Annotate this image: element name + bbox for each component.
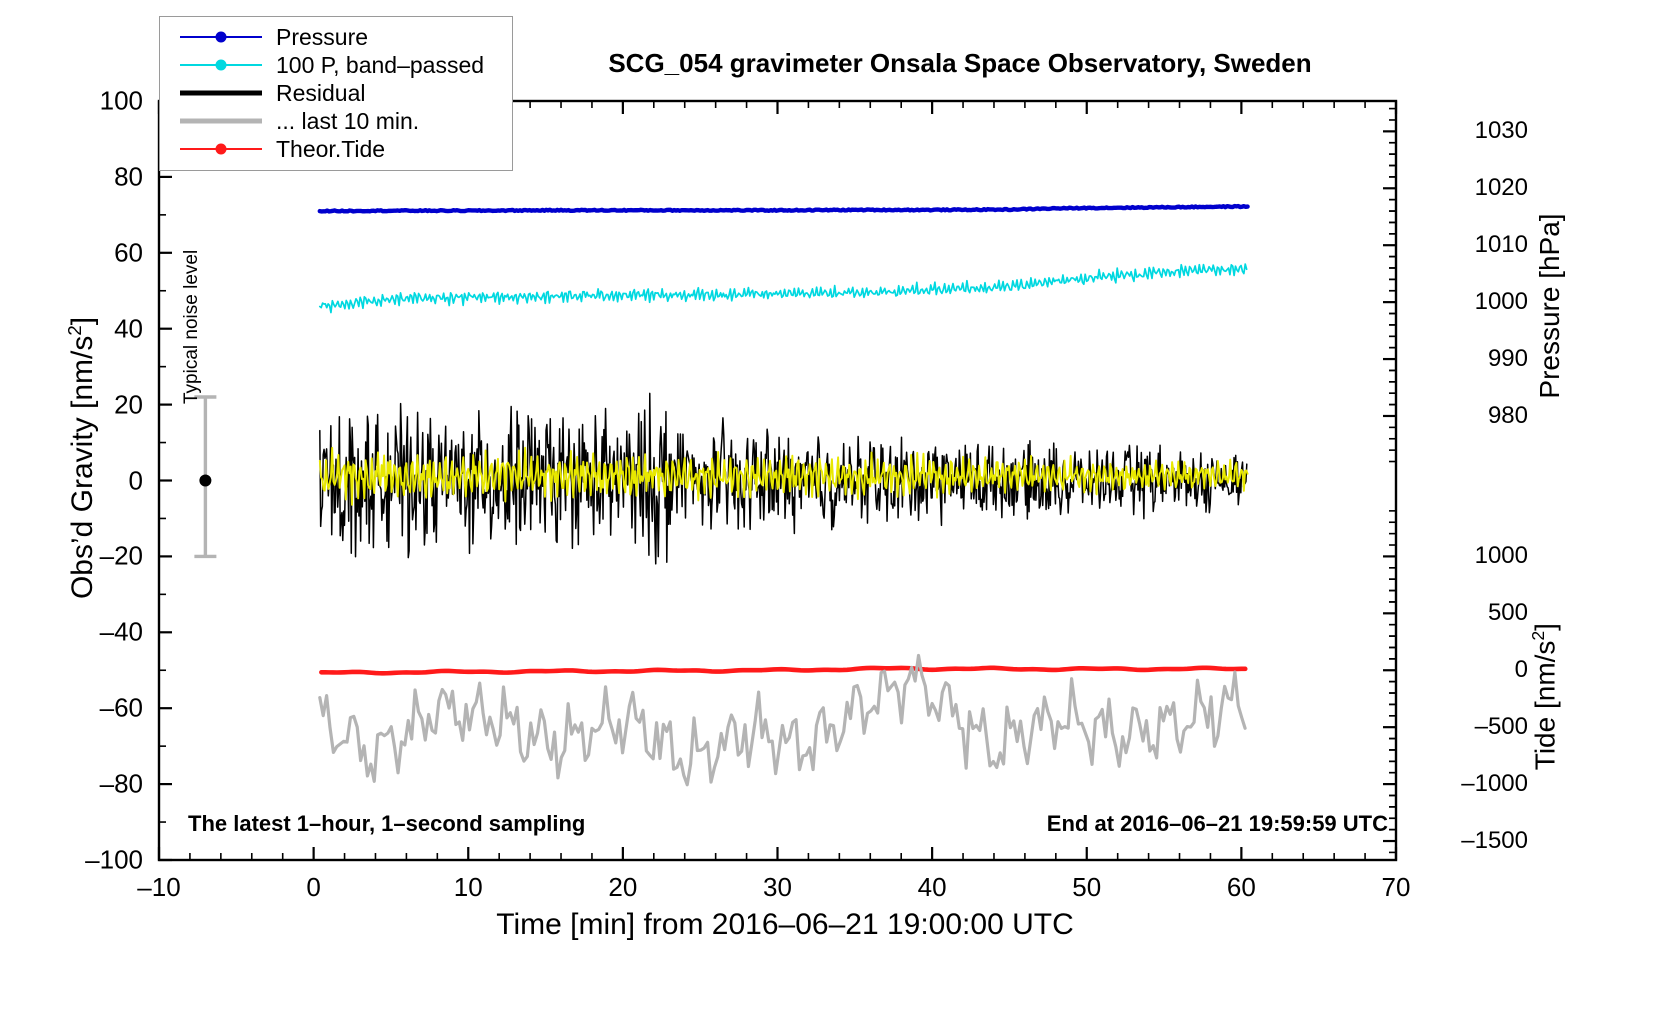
y-axis-right-tick-label: 1020: [1418, 174, 1528, 202]
chart-figure: SCG_054 gravimeter Onsala Space Observat…: [0, 0, 1660, 1020]
latest-sampling-note: The latest 1–hour, 1–second sampling: [188, 811, 585, 837]
series-pressure: [320, 206, 1248, 211]
noise-level-note: Typical noise level: [181, 224, 203, 404]
series-last-10-min: [320, 656, 1245, 785]
y-axis-right-tick-label: –1000: [1418, 770, 1528, 798]
legend-item[interactable]: ... last 10 min.: [160, 107, 512, 135]
legend: Pressure100 P, band–passedResidual... la…: [159, 16, 513, 171]
y-axis-left-tick-label: –100: [23, 845, 143, 876]
y-axis-right-tide-title: Tide [nm/s2]: [1528, 497, 1561, 897]
legend-item-label: Pressure: [276, 24, 368, 51]
legend-item[interactable]: Theor.Tide: [160, 135, 512, 163]
y-axis-left-tick-label: 60: [23, 237, 143, 268]
y-axis-right-pressure-title: Pressure [hPa]: [1534, 96, 1566, 516]
legend-swatch-5: [178, 135, 264, 163]
x-axis-tick-label: 20: [563, 872, 683, 903]
x-axis-tick-label: 30: [718, 872, 838, 903]
legend-marker-dot-icon: [216, 32, 227, 43]
y-axis-left-tick-label: –80: [23, 769, 143, 800]
end-time-note: End at 2016–06–21 19:59:59 UTC: [1047, 811, 1388, 837]
y-axis-right-tick-label: –500: [1418, 713, 1528, 741]
legend-marker-dot-icon: [216, 60, 227, 71]
y-axis-right-tick-label: 990: [1418, 345, 1528, 373]
y-axis-left-tick-label: 100: [23, 86, 143, 117]
x-axis-tick-label: 0: [254, 872, 374, 903]
y-axis-right-tick-label: 0: [1418, 656, 1528, 684]
legend-item-label: 100 P, band–passed: [276, 52, 484, 79]
y-axis-left-tick-label: –20: [23, 541, 143, 572]
legend-line-icon: [180, 119, 262, 124]
legend-item[interactable]: Pressure: [160, 23, 512, 51]
legend-item-label: ... last 10 min.: [276, 108, 419, 135]
y-axis-right-tick-label: 1030: [1418, 117, 1528, 145]
legend-item[interactable]: 100 P, band–passed: [160, 51, 512, 79]
y-axis-left-tick-label: 40: [23, 313, 143, 344]
x-axis-title: Time [min] from 2016–06–21 19:00:00 UTC: [180, 908, 1390, 942]
x-axis-title-text: Time [min] from 2016–06–21 19:00:00 UTC: [496, 908, 1074, 941]
x-axis-tick-label: 50: [1027, 872, 1147, 903]
y-axis-left-tick-label: –60: [23, 693, 143, 724]
legend-swatch-2: [178, 51, 264, 79]
legend-marker-dot-icon: [216, 144, 227, 155]
series-theor-tide: [321, 668, 1245, 674]
y-axis-right-tick-label: 1000: [1418, 542, 1528, 570]
legend-item-label: Residual: [276, 80, 366, 107]
x-axis-tick-label: 60: [1181, 872, 1301, 903]
x-axis-tick-label: 40: [872, 872, 992, 903]
y-axis-left-tick-label: 80: [23, 161, 143, 192]
noise-bar-center-dot: [199, 475, 211, 487]
y-axis-right-tick-label: –1500: [1418, 827, 1528, 855]
x-axis-tick-label: 70: [1336, 872, 1456, 903]
series-pressure-bandpassed: [320, 264, 1247, 312]
y-axis-right-tick-label: 1000: [1418, 288, 1528, 316]
y-axis-left-tick-label: 0: [23, 465, 143, 496]
legend-item-label: Theor.Tide: [276, 136, 385, 163]
y-axis-right-tick-label: 1010: [1418, 231, 1528, 259]
y-axis-left-tick-label: –40: [23, 617, 143, 648]
x-axis-tick-label: –10: [99, 872, 219, 903]
legend-swatch-4: [178, 107, 264, 135]
y-axis-right-tide-title-text: Tide [nm/s2]: [1530, 623, 1561, 770]
y-axis-right-tick-label: 500: [1418, 599, 1528, 627]
x-axis-tick-label: 10: [408, 872, 528, 903]
legend-swatch-3: [178, 79, 264, 107]
y-axis-left-tick-label: 20: [23, 389, 143, 420]
legend-swatch-1: [178, 23, 264, 51]
legend-item[interactable]: Residual: [160, 79, 512, 107]
legend-line-icon: [180, 91, 262, 96]
y-axis-right-pressure-title-text: Pressure [hPa]: [1534, 213, 1565, 398]
y-axis-right-tick-label: 980: [1418, 402, 1528, 430]
